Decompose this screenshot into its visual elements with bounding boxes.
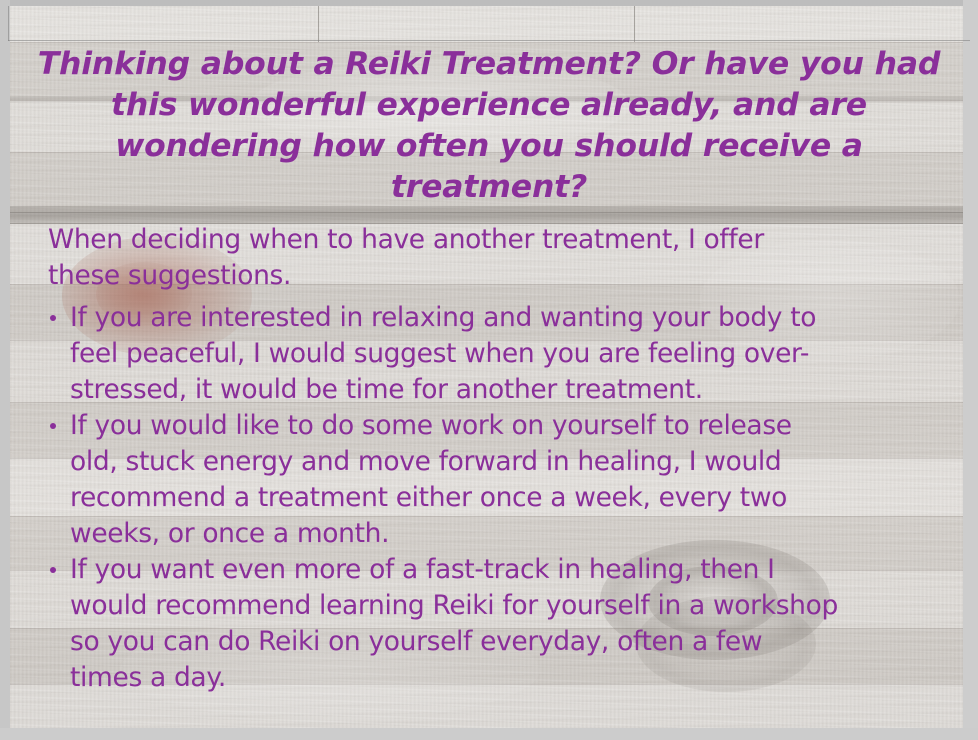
wood-joint (634, 0, 635, 42)
slide-body: When deciding when to have another treat… (48, 222, 938, 696)
frame-top-edge (0, 0, 978, 6)
bullet-line: If you are interested in relaxing and wa… (70, 300, 936, 336)
intro-line: When deciding when to have another treat… (48, 222, 878, 258)
list-item: If you want even more of a fast-track in… (48, 552, 950, 696)
title-line: wondering how often you should receive a (115, 128, 863, 164)
bullet-line: old, stuck energy and move forward in he… (70, 444, 930, 480)
list-item: If you would like to do some work on you… (48, 408, 930, 552)
inset-hairline-vertical (8, 6, 9, 41)
bullet-line: weeks, or once a month. (70, 516, 930, 552)
frame-right-edge (963, 0, 978, 740)
frame-bottom-edge (0, 728, 978, 740)
list-item: If you are interested in relaxing and wa… (48, 300, 936, 408)
bullet-line: If you want even more of a fast-track in… (70, 552, 950, 588)
wood-joint (318, 0, 319, 42)
bullet-line: times a day. (70, 660, 950, 696)
wood-seam (0, 212, 978, 213)
intro-line: these suggestions. (48, 258, 878, 294)
bullet-line: stressed, it would be time for another t… (70, 372, 936, 408)
bullet-dot-icon (50, 315, 56, 321)
title-line: treatment? (391, 169, 587, 205)
suggestions-list: If you are interested in relaxing and wa… (48, 300, 938, 696)
inset-hairline-horizontal (8, 40, 970, 41)
slide-canvas: Thinking about a Reiki Treatment? Or hav… (0, 0, 978, 740)
frame-left-edge (0, 0, 10, 740)
bullet-dot-icon (50, 567, 56, 573)
bullet-dot-icon (50, 423, 56, 429)
intro-paragraph: When deciding when to have another treat… (48, 222, 878, 294)
bullet-line: feel peaceful, I would suggest when you … (70, 336, 936, 372)
wood-seam (0, 42, 978, 43)
slide-title: Thinking about a Reiki Treatment? Or hav… (30, 44, 948, 208)
bullet-line: so you can do Reiki on yourself everyday… (70, 624, 950, 660)
wood-plank (0, 6, 978, 42)
bullet-line: would recommend learning Reiki for yours… (70, 588, 950, 624)
title-line: Thinking about a Reiki Treatment? Or hav… (38, 46, 864, 82)
bullet-line: If you would like to do some work on you… (70, 408, 930, 444)
bullet-line: recommend a treatment either once a week… (70, 480, 930, 516)
